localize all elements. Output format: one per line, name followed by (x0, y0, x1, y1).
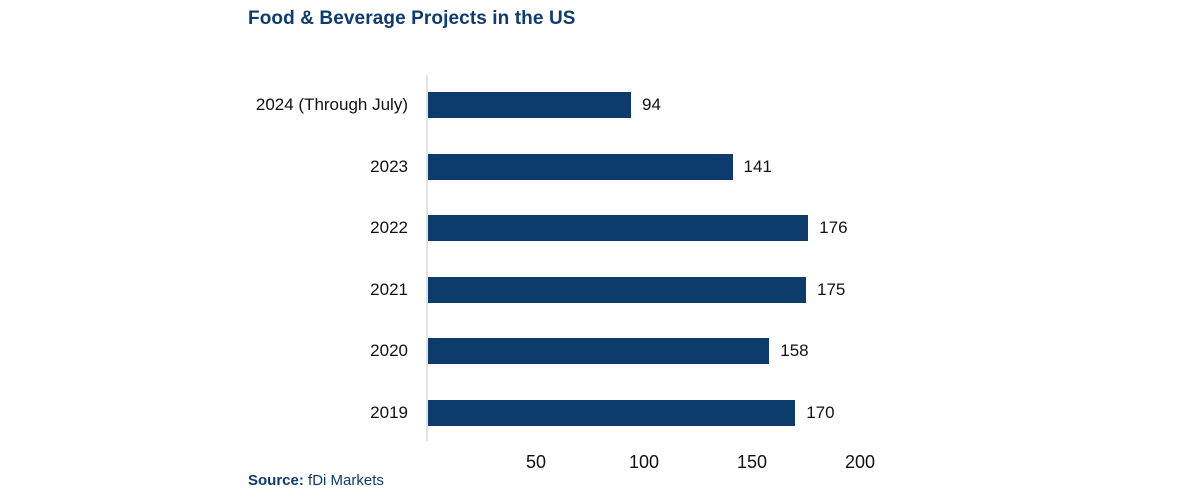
bar-row: 2019170 (0, 400, 1200, 426)
bar (428, 92, 631, 118)
category-label: 2020 (370, 338, 408, 364)
bar (428, 215, 808, 241)
bar (428, 400, 795, 426)
x-axis-tick-label: 150 (737, 452, 767, 473)
bar-value-label: 176 (819, 215, 847, 241)
bar-row: 2021175 (0, 277, 1200, 303)
bar-value-label: 94 (642, 92, 661, 118)
bar-value-label: 141 (744, 154, 772, 180)
bar (428, 154, 733, 180)
source-note: Source: fDi Markets (248, 472, 384, 489)
bar-row: 2022176 (0, 215, 1200, 241)
bar-value-label: 175 (817, 277, 845, 303)
bar-value-label: 170 (806, 400, 834, 426)
x-axis-tick-label: 200 (845, 452, 875, 473)
bar-row: 2024 (Through July)94 (0, 92, 1200, 118)
category-label: 2019 (370, 400, 408, 426)
x-axis-tick-label: 50 (526, 452, 546, 473)
bar (428, 338, 769, 364)
category-label: 2024 (Through July) (256, 92, 408, 118)
category-label: 2022 (370, 215, 408, 241)
bar (428, 277, 806, 303)
bar-value-label: 158 (780, 338, 808, 364)
chart-plot-area: 2024 (Through July)942023141202217620211… (0, 0, 1200, 500)
bar-row: 2023141 (0, 154, 1200, 180)
category-label: 2023 (370, 154, 408, 180)
source-value: fDi Markets (304, 472, 384, 489)
x-axis-tick-labels: 50100150200 (0, 452, 1200, 480)
x-axis-tick-label: 100 (629, 452, 659, 473)
source-label: Source: (248, 472, 304, 489)
category-label: 2021 (370, 277, 408, 303)
value-axis-spine (426, 75, 428, 441)
bar-row: 2020158 (0, 338, 1200, 364)
